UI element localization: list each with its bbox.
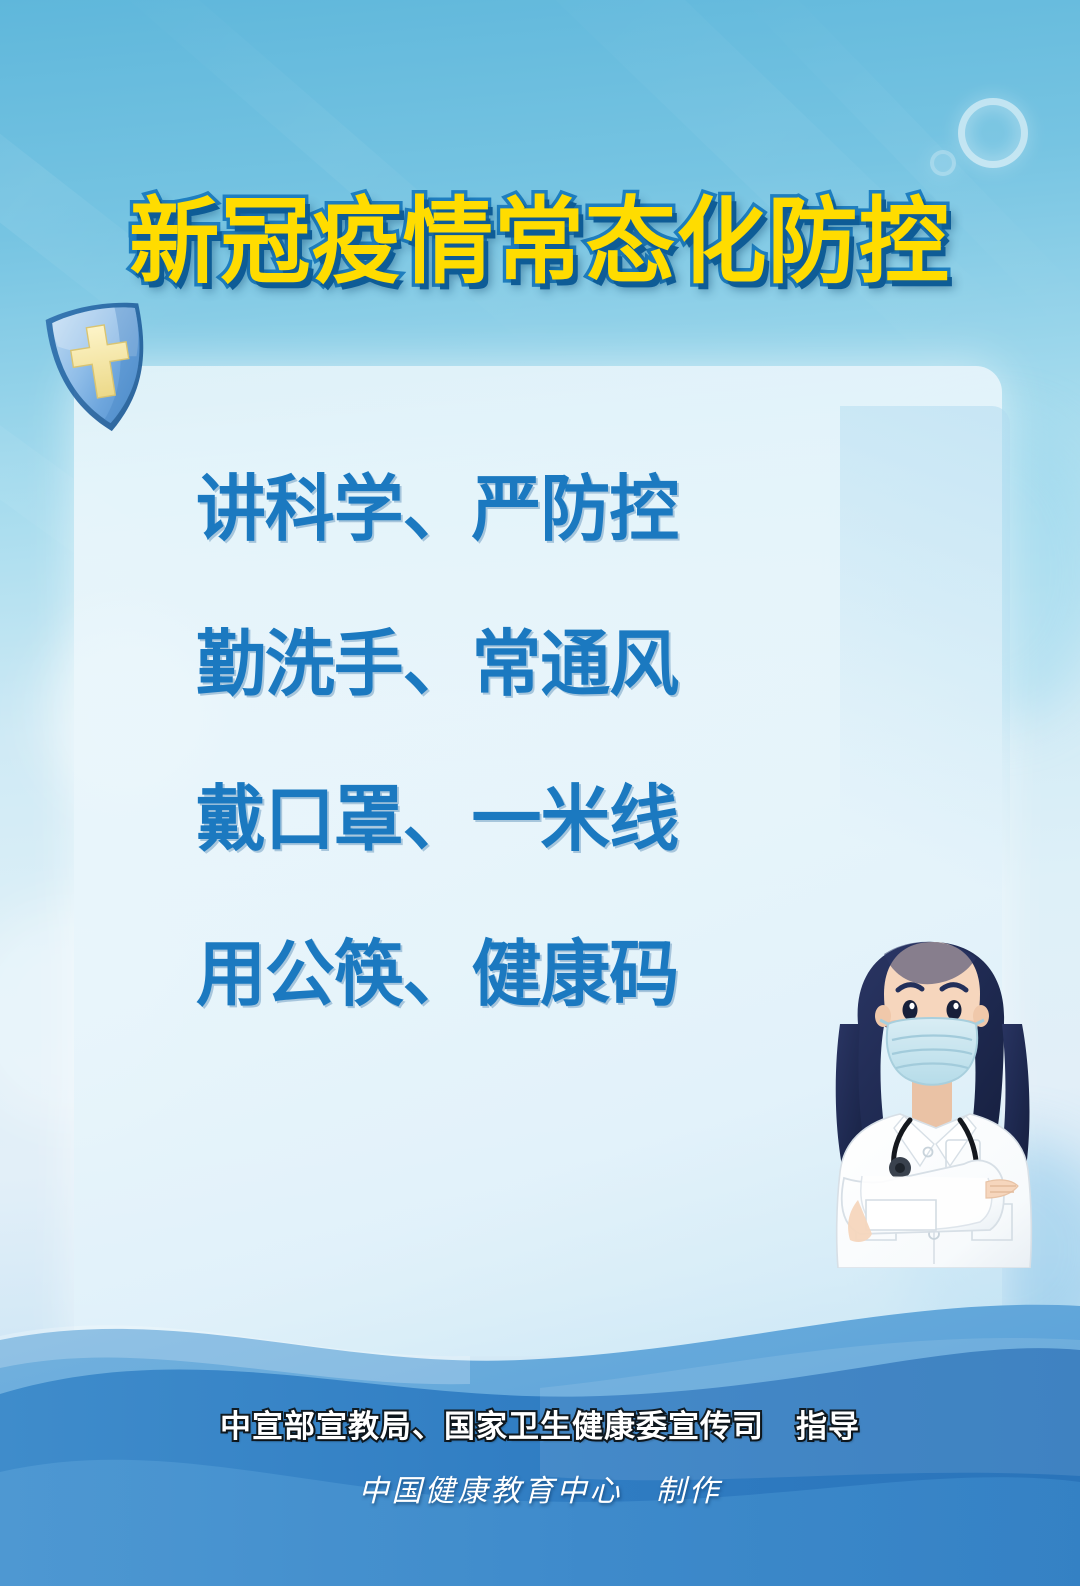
shield-with-cross-icon <box>29 287 172 450</box>
title-container: 新冠疫情常态化防控 <box>0 196 1080 290</box>
slogan-line-4: 用公筷、健康码 <box>196 937 875 1092</box>
bubble-ring-icon <box>930 150 956 176</box>
footer: 中宣部宣教局、国家卫生健康委宣传司 指导 中国健康教育中心 制作 <box>0 1401 1080 1510</box>
bubble-ring-icon <box>958 98 1028 168</box>
slogan-line-1: 讲科学、严防控 <box>196 472 875 627</box>
diagonal-streak <box>100 0 583 368</box>
footer-producer-line: 中国健康教育中心 制作 <box>0 1466 1080 1510</box>
covid-prevention-poster: 新冠疫情常态化防控 讲科学、严防控 勤洗手、常 <box>0 0 1080 1586</box>
footer-guidance-line: 中宣部宣教局、国家卫生健康委宣传司 指导 <box>0 1401 1080 1446</box>
page-title: 新冠疫情常态化防控 <box>130 196 951 290</box>
slogan-line-3: 戴口罩、一米线 <box>196 782 875 937</box>
slogan-list: 讲科学、严防控 勤洗手、常通风 戴口罩、一米线 用公筷、健康码 <box>196 472 896 1092</box>
slogan-line-2: 勤洗手、常通风 <box>196 627 875 782</box>
female-doctor-illustration <box>800 928 1068 1268</box>
